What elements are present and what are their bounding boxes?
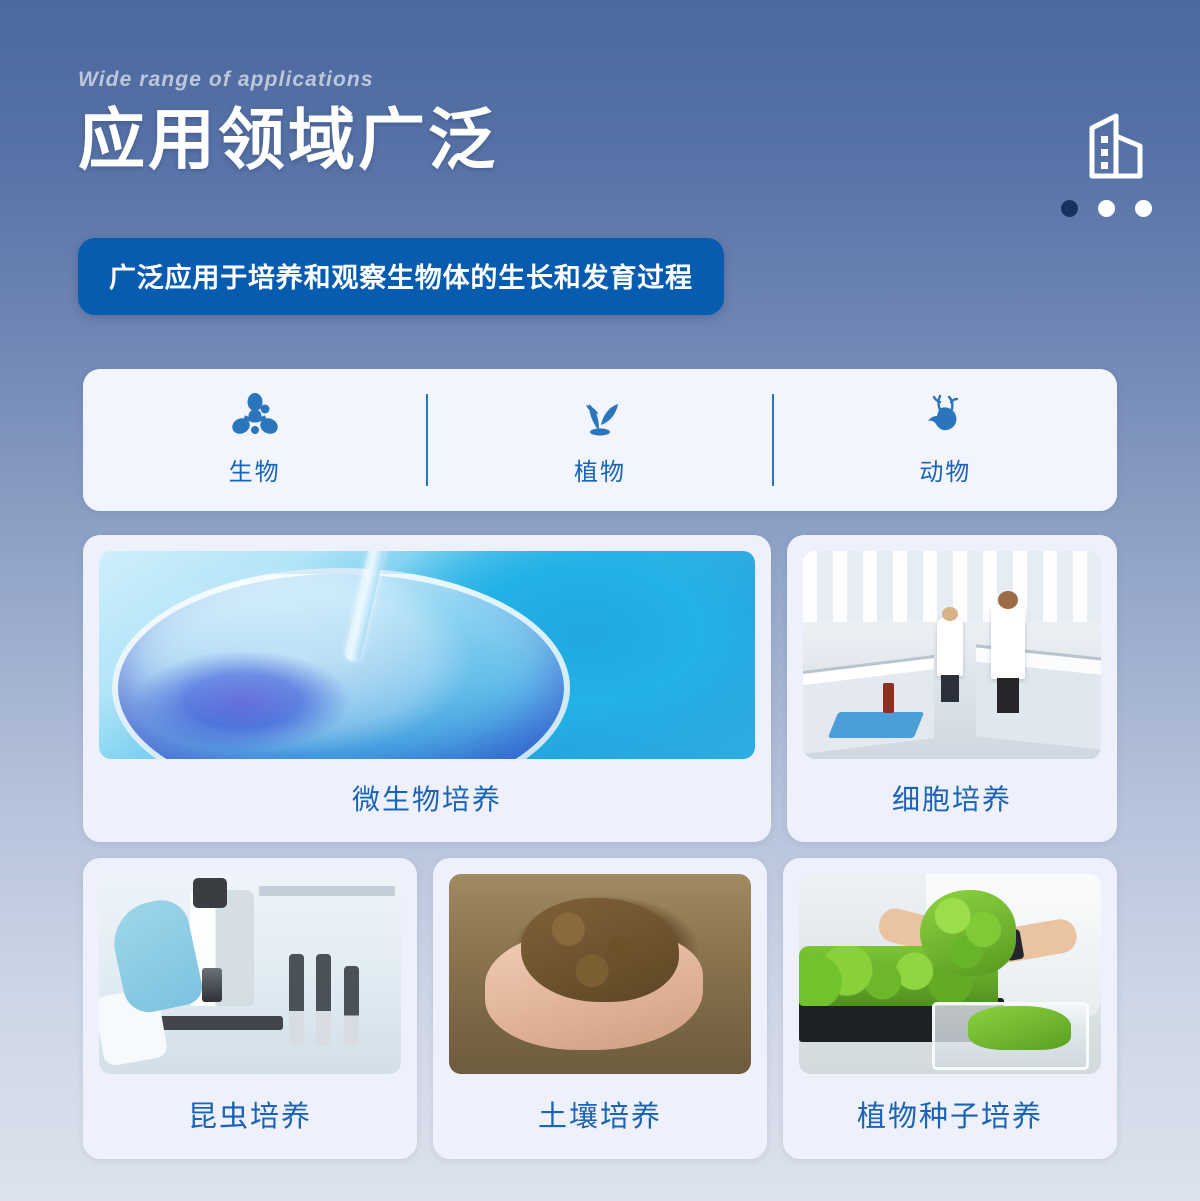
category-item-plant[interactable]: 植物 — [428, 369, 771, 511]
category-bar: 生物 植物 — [83, 369, 1117, 511]
card-label-plant-seed-culture: 植物种子培养 — [857, 1093, 1043, 1135]
card-plant-seed-culture[interactable]: 植物种子培养 — [783, 858, 1117, 1159]
pipette-1 — [289, 954, 304, 1046]
carousel-dot-3[interactable] — [1135, 200, 1152, 217]
lab-blue-tray — [828, 712, 925, 738]
laboratory-room-photo — [803, 551, 1101, 759]
page-title: 应用领域广泛 — [78, 106, 1200, 176]
pipette-3 — [344, 966, 359, 1046]
category-label-biology: 生物 — [229, 452, 281, 487]
card-label-insect-culture: 昆虫培养 — [188, 1093, 312, 1135]
molecule-icon — [232, 393, 278, 439]
card-insect-culture[interactable]: 昆虫培养 — [83, 858, 417, 1159]
seedling-icon — [577, 393, 623, 439]
category-label-animal: 动物 — [919, 452, 971, 487]
carousel-dot-2[interactable] — [1098, 200, 1115, 217]
card-cell-culture[interactable]: 细胞培养 — [787, 535, 1117, 842]
card-label-cell-culture: 细胞培养 — [892, 778, 1012, 818]
pipette-2 — [316, 954, 331, 1046]
category-item-animal[interactable]: 动物 — [774, 369, 1117, 511]
lab-scientist-foreground — [991, 605, 1025, 679]
hand-holding-soil-photo — [449, 874, 751, 1074]
microscope-eyepiece — [193, 878, 227, 908]
lab-red-vial — [883, 683, 894, 713]
card-microbe-culture[interactable]: 微生物培养 — [83, 535, 771, 842]
microscope-stage — [153, 1016, 283, 1030]
subtitle-banner: 广泛应用于培养和观察生物体的生长和发育过程 — [78, 238, 724, 315]
category-label-plant: 植物 — [574, 452, 626, 487]
petri-dish-pipette-photo — [99, 551, 755, 759]
page-header: Wide range of applications 应用领域广泛 — [0, 0, 1200, 230]
carousel-dot-1[interactable] — [1061, 200, 1078, 217]
eyebrow-text: Wide range of applications — [78, 68, 1200, 92]
card-row-2: 昆虫培养 土壤培养 植物种子培养 — [83, 858, 1117, 1159]
lab-bench-left — [803, 655, 934, 754]
lab-shelf — [259, 886, 395, 896]
microscope-photo — [99, 874, 401, 1074]
card-row-1: 微生物培养 细胞培养 — [83, 535, 1117, 842]
microscope-objective — [202, 968, 222, 1002]
seedling-trays-photo — [799, 874, 1101, 1074]
card-label-microbe-culture: 微生物培养 — [352, 778, 502, 818]
bin-seedlings — [968, 1006, 1071, 1050]
card-label-soil-culture: 土壤培养 — [538, 1093, 662, 1135]
deer-head-icon — [922, 393, 968, 439]
category-item-biology[interactable]: 生物 — [83, 369, 426, 511]
seedling-bunch — [920, 890, 1016, 976]
lab-scientist-background — [937, 618, 963, 676]
building-icon — [1086, 112, 1148, 180]
carousel-dots[interactable] — [1061, 200, 1152, 217]
card-soil-culture[interactable]: 土壤培养 — [433, 858, 767, 1159]
